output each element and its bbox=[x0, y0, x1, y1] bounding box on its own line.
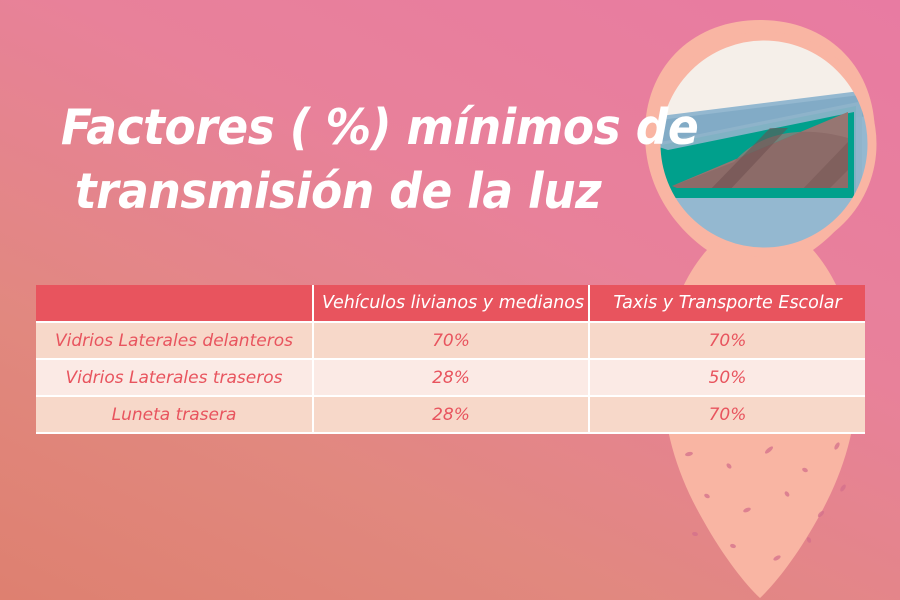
row-label-rear-windshield: Luneta trasera bbox=[36, 396, 313, 433]
column-header-blank bbox=[36, 285, 313, 322]
table-header-row: Vehículos livianos y medianos Taxis y Tr… bbox=[36, 285, 865, 322]
table-row: Vidrios Laterales traseros 28% 50% bbox=[36, 359, 865, 396]
row-label-rear-side-windows: Vidrios Laterales traseros bbox=[36, 359, 313, 396]
table-row: Vidrios Laterales delanteros 70% 70% bbox=[36, 322, 865, 359]
table-header: Vehículos livianos y medianos Taxis y Tr… bbox=[36, 285, 865, 322]
cell-rear-side-taxis-school: 50% bbox=[589, 359, 865, 396]
page-title-line-2: transmisión de la luz bbox=[61, 160, 615, 224]
cell-front-side-taxis-school: 70% bbox=[589, 322, 865, 359]
table-body: Vidrios Laterales delanteros 70% 70% Vid… bbox=[36, 322, 865, 433]
row-label-front-side-windows: Vidrios Laterales delanteros bbox=[36, 322, 313, 359]
cell-front-side-light-vehicles: 70% bbox=[313, 322, 589, 359]
cell-rear-side-light-vehicles: 28% bbox=[313, 359, 589, 396]
cell-rear-windshield-light-vehicles: 28% bbox=[313, 396, 589, 433]
infographic-poster: Factores ( %) mínimos de transmisión de … bbox=[0, 0, 900, 600]
page-title-line-1: Factores ( %) mínimos de bbox=[61, 96, 615, 160]
column-header-light-vehicles: Vehículos livianos y medianos bbox=[313, 285, 589, 322]
cell-rear-windshield-taxis-school: 70% bbox=[589, 396, 865, 433]
table-row: Luneta trasera 28% 70% bbox=[36, 396, 865, 433]
minimum-light-transmission-table: Vehículos livianos y medianos Taxis y Tr… bbox=[36, 285, 865, 434]
page-title: Factores ( %) mínimos de transmisión de … bbox=[40, 96, 636, 224]
column-header-taxis-school: Taxis y Transporte Escolar bbox=[589, 285, 865, 322]
